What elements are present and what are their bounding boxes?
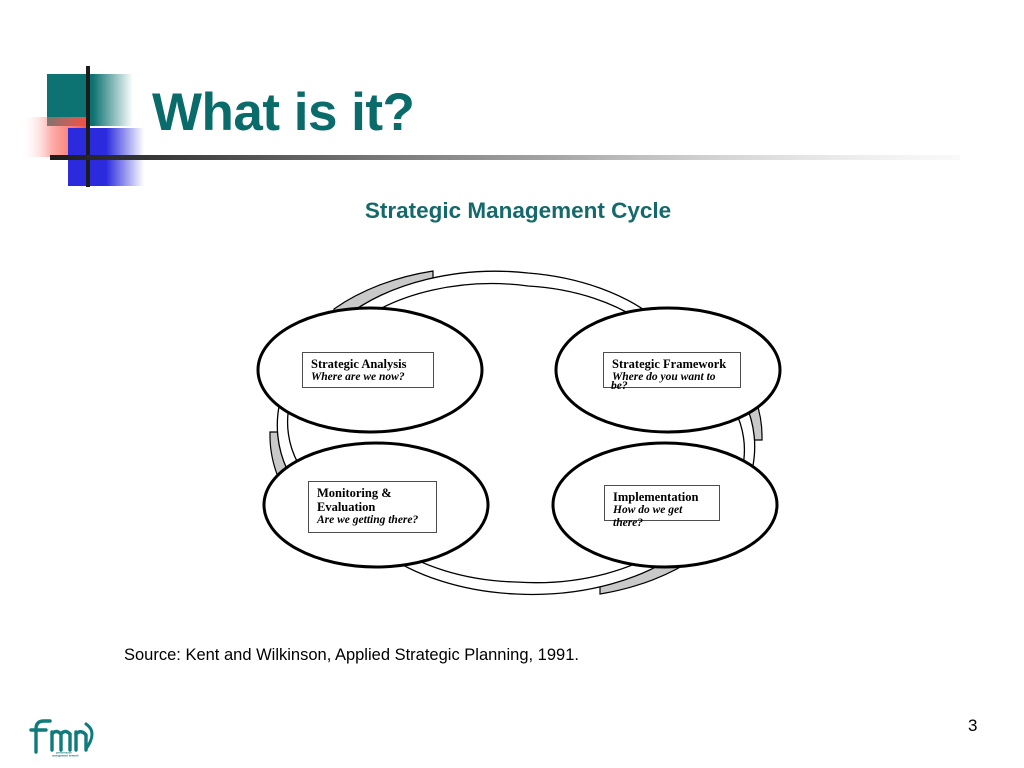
node-label-strategic-analysis: Strategic Analysis Where are we now? <box>302 352 434 388</box>
pmn-wordmark <box>31 721 92 752</box>
node-title-strategic-framework: Strategic Framework <box>612 357 734 371</box>
page-number: 3 <box>968 716 977 736</box>
node-title-monitoring-evaluation-line1: Monitoring & <box>317 486 430 500</box>
node-question-overflow-strategic-framework: be? <box>611 380 761 393</box>
node-label-implementation: Implementation How do we get there? <box>604 485 720 521</box>
node-title-implementation: Implementation <box>613 490 713 504</box>
decor-blue-square <box>68 128 144 186</box>
decor-red-rectangle <box>21 117 89 157</box>
node-title-monitoring-evaluation-line2: Evaluation <box>317 500 430 514</box>
page-title: What is it? <box>152 86 414 139</box>
decor-horizontal-rule <box>50 155 960 160</box>
pmn-logo: performance management network <box>26 712 106 758</box>
decor-vertical-rule <box>86 66 90 187</box>
node-title-strategic-analysis: Strategic Analysis <box>311 357 427 371</box>
source-note: Source: Kent and Wilkinson, Applied Stra… <box>124 646 579 665</box>
node-question-implementation: How do we get there? <box>613 504 713 530</box>
strategic-management-cycle-diagram: Strategic Analysis Where are we now? Str… <box>228 268 804 604</box>
node-question-strategic-analysis: Where are we now? <box>311 371 427 384</box>
slide-subtitle: Strategic Management Cycle <box>0 198 1024 224</box>
node-label-strategic-framework: Strategic Framework Where do you want to… <box>603 352 741 388</box>
node-label-monitoring-evaluation: Monitoring & Evaluation Are we getting t… <box>308 481 437 533</box>
decor-teal-square <box>47 74 133 126</box>
pmn-tagline-line2: management network <box>52 754 79 758</box>
cycle-graphic <box>228 268 804 604</box>
node-question-monitoring-evaluation: Are we getting there? <box>317 514 430 527</box>
